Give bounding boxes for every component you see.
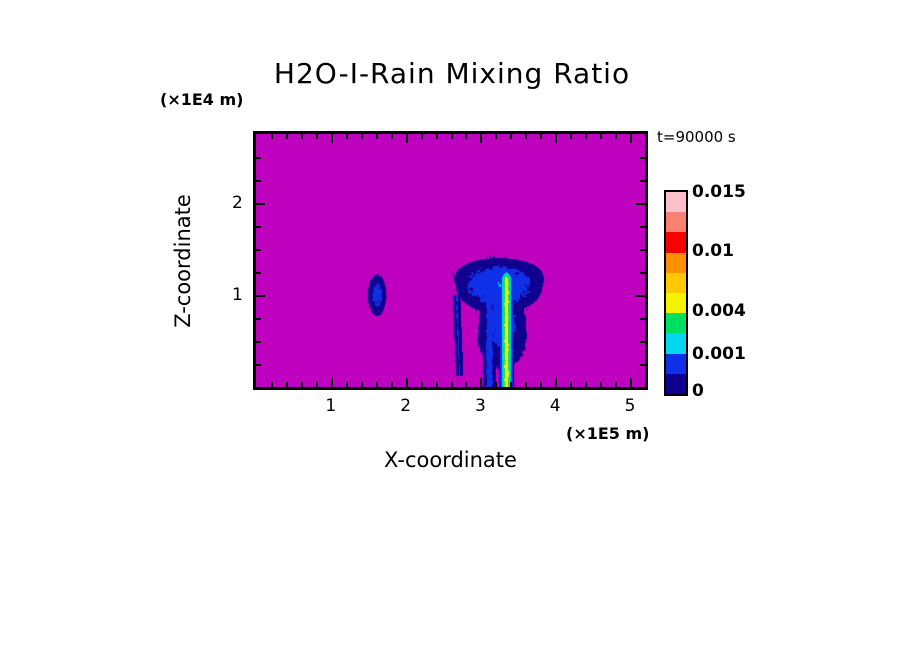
x-tick [555,378,557,387]
x-tick [301,134,303,139]
x-tick [346,382,348,387]
x-tick [525,382,527,387]
x-tick [451,134,453,139]
x-tick [465,382,467,387]
colorbar-band [666,273,686,293]
x-tick-label: 2 [400,396,411,416]
y-tick [256,364,261,366]
x-tick [301,382,303,387]
x-axis-unit-label: (×1E5 m) [566,424,649,443]
colorbar-band [666,333,686,353]
x-tick [600,382,602,387]
y-tick [256,272,261,274]
y-tick [640,364,645,366]
x-tick-label: 5 [625,396,636,416]
colorbar-band [666,313,686,333]
y-tick [640,157,645,159]
x-tick [421,134,423,139]
x-tick [331,378,333,387]
x-tick [615,134,617,139]
colorbar-band [666,293,686,313]
colorbar-band [666,253,686,273]
y-tick [640,180,645,182]
x-tick [600,134,602,139]
x-tick [331,134,333,143]
x-tick [406,134,408,143]
x-tick [570,382,572,387]
x-tick [391,382,393,387]
colorbar-band [666,212,686,232]
contour-field [256,134,645,387]
y-tick [256,318,261,320]
page-title: H2O-I-Rain Mixing Ratio [0,57,904,90]
y-tick [636,203,645,205]
colorbar-band [666,354,686,374]
y-tick [256,157,261,159]
x-tick [630,378,632,387]
x-tick [391,134,393,139]
y-tick [640,249,645,251]
x-tick [406,378,408,387]
x-tick [480,378,482,387]
x-tick [615,382,617,387]
x-tick [495,134,497,139]
x-tick [525,134,527,139]
x-tick [540,382,542,387]
colorbar-tick-label: 0.001 [692,344,746,364]
x-tick [570,134,572,139]
x-tick-label: 1 [325,396,336,416]
x-tick [510,382,512,387]
x-tick [436,134,438,139]
x-tick-label: 3 [475,396,486,416]
x-tick [286,382,288,387]
colorbar-band [666,374,686,394]
colorbar-band [666,192,686,212]
x-tick [540,134,542,139]
y-tick [640,318,645,320]
y-tick [256,249,261,251]
plot-area[interactable] [253,131,648,390]
x-tick [376,382,378,387]
x-tick [286,134,288,139]
colorbar-tick-label: 0.015 [692,182,746,202]
colorbar-band [666,232,686,252]
y-tick [640,341,645,343]
y-tick-label: 1 [232,285,243,305]
x-tick [436,382,438,387]
x-tick [585,134,587,139]
x-tick [376,134,378,139]
x-tick [271,382,273,387]
y-tick [640,272,645,274]
x-tick [346,134,348,139]
y-tick [256,226,261,228]
colorbar-tick-label: 0.01 [692,241,734,261]
x-tick-label: 4 [550,396,561,416]
x-tick [480,134,482,143]
x-axis-title: X-coordinate [253,448,648,472]
x-tick [451,382,453,387]
figure-canvas: H2O-I-Rain Mixing Ratio (×1E4 m) t=90000… [0,0,904,654]
x-tick [510,134,512,139]
y-tick [256,180,261,182]
x-tick [495,382,497,387]
y-tick [256,341,261,343]
y-tick [256,295,265,297]
x-tick [555,134,557,143]
y-axis-unit-label: (×1E4 m) [160,90,243,109]
x-tick [361,382,363,387]
time-annotation: t=90000 s [657,128,736,146]
x-tick [585,382,587,387]
colorbar[interactable] [664,190,688,396]
y-axis-title: Z-coordinate [171,194,195,328]
y-tick [636,295,645,297]
colorbar-tick-label: 0 [692,381,704,401]
y-tick-label: 2 [232,193,243,213]
x-tick [361,134,363,139]
x-tick [316,134,318,139]
x-tick [316,382,318,387]
x-tick [421,382,423,387]
y-tick [640,226,645,228]
x-tick [630,134,632,143]
colorbar-tick-label: 0.004 [692,301,746,321]
x-tick [465,134,467,139]
y-tick [256,203,265,205]
x-tick [271,134,273,139]
